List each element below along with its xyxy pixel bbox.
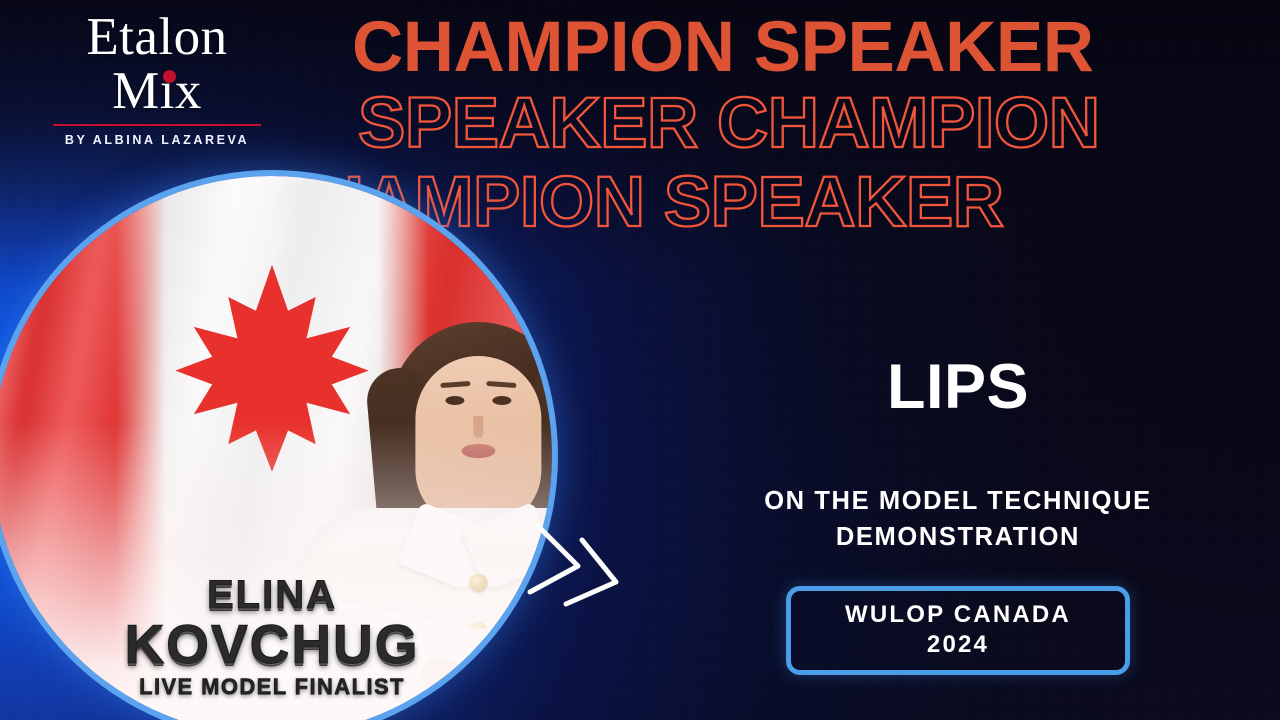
- brand-divider: [53, 124, 261, 126]
- headline-row-1: CHAMPION SPEAKER: [352, 14, 1257, 81]
- event-name: WULOP CANADA: [791, 600, 1125, 629]
- topic-subtitle: ON THE MODEL TECHNIQUE DEMONSTRATION: [648, 483, 1268, 555]
- main-content-column: LIPS ON THE MODEL TECHNIQUE DEMONSTRATIO…: [648, 356, 1268, 675]
- brand-name-line1: Etalon: [47, 12, 267, 64]
- poster-canvas: Etalon Mix BY ALBINA LAZAREVA CHAMPION S…: [0, 0, 1280, 720]
- brand-name-line2: Mix: [47, 64, 267, 118]
- brand-byline: BY ALBINA LAZAREVA: [47, 133, 267, 147]
- portrait-circle: ELINA KOVCHUG LIVE MODEL FINALIST: [0, 176, 552, 720]
- speaker-first-name: ELINA: [0, 575, 552, 615]
- speaker-role: LIVE MODEL FINALIST: [0, 674, 552, 700]
- event-year: 2024: [791, 630, 1125, 659]
- red-dot-icon: [163, 70, 176, 83]
- topic-subtitle-line1: ON THE MODEL TECHNIQUE: [648, 483, 1268, 519]
- speaker-last-name: KOVCHUG: [0, 616, 552, 672]
- brand-name-line2-text: Mix: [112, 62, 202, 120]
- brand-logo: Etalon Mix BY ALBINA LAZAREVA: [47, 12, 267, 147]
- event-badge: WULOP CANADA 2024: [786, 586, 1130, 675]
- headline-row-2: SPEAKER CHAMPION: [358, 90, 1257, 157]
- speaker-nameplate: ELINA KOVCHUG LIVE MODEL FINALIST: [0, 575, 552, 700]
- topic-title: LIPS: [648, 356, 1268, 419]
- topic-subtitle-line2: DEMONSTRATION: [648, 519, 1268, 555]
